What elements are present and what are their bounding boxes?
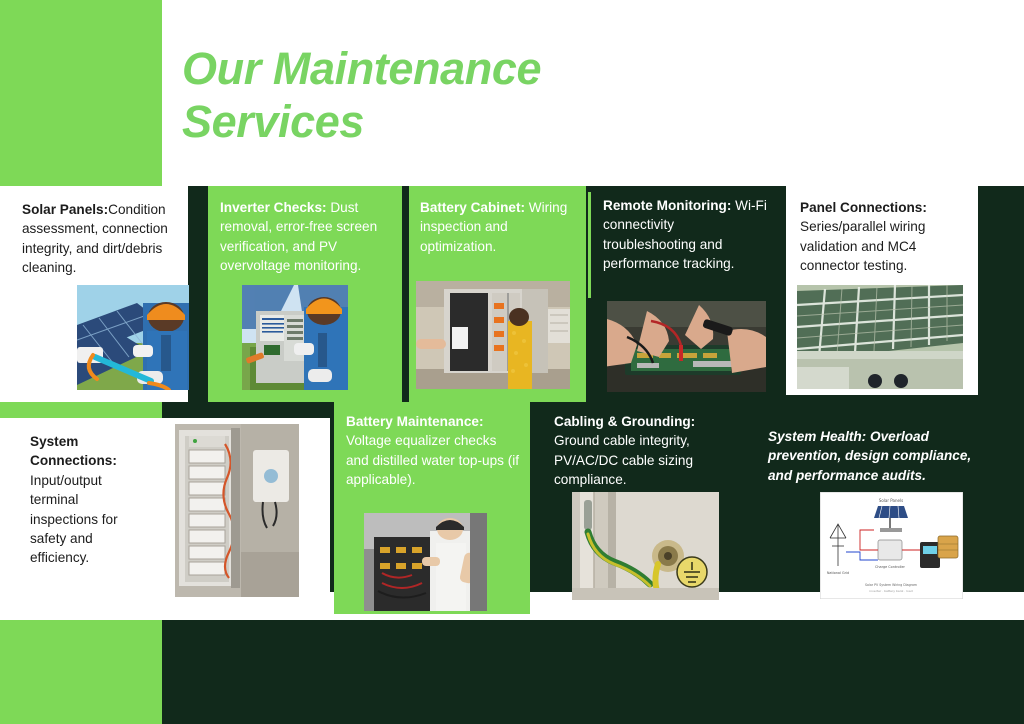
page-title: Our Maintenance Services	[182, 42, 652, 148]
card-system-connections-text: System Connections: Input/output termina…	[30, 432, 135, 568]
svg-text:National Grid: National Grid	[827, 571, 849, 575]
card-remote-monitoring[interactable]: Remote Monitoring: Wi-Fi connectivity tr…	[588, 192, 778, 298]
card-system-health[interactable]: System Health: Overload prevention, desi…	[768, 427, 978, 489]
card-remote-monitoring-text: Remote Monitoring: Wi-Fi connectivity tr…	[603, 196, 768, 274]
card-system-connections-body: Input/output terminal inspections for sa…	[30, 473, 118, 566]
card-solar-panels-image	[77, 285, 189, 390]
page-title-line-2: Services	[182, 95, 652, 148]
card-solar-panels-heading: Solar Panels:	[22, 202, 108, 217]
card-battery-maintenance-body: Voltage equalizer checks and distilled w…	[346, 433, 519, 487]
card-cabling-grounding[interactable]: Cabling & Grounding: Ground cable integr…	[554, 412, 734, 488]
card-cabling-grounding-heading: Cabling & Grounding:	[554, 414, 695, 429]
card-solar-panels-text: Solar Panels:Condition assessment, conne…	[22, 200, 176, 278]
card-system-health-heading: System Health:	[768, 429, 866, 444]
card-panel-connections-heading: Panel Connections:	[800, 200, 927, 215]
card-battery-cabinet-image	[416, 281, 570, 389]
bottom-left-green-block	[0, 620, 162, 724]
card-battery-cabinet-heading: Battery Cabinet:	[420, 200, 525, 215]
svg-text:Solar Panels: Solar Panels	[879, 498, 903, 503]
svg-text:inverter · battery bank · load: inverter · battery bank · load	[869, 589, 912, 593]
card-cabling-grounding-text: Cabling & Grounding: Ground cable integr…	[554, 412, 734, 490]
card-inverter-checks-heading: Inverter Checks:	[220, 200, 327, 215]
svg-text:Charge Controller: Charge Controller	[875, 565, 906, 569]
card-system-health-image: Solar Panels National Grid Charge Contro…	[820, 492, 963, 599]
poster-canvas: Our Maintenance Services Solar Panels:Co…	[0, 0, 1024, 724]
card-panel-connections-text: Panel Connections: Series/parallel wirin…	[800, 198, 964, 276]
header-green-block	[0, 0, 162, 186]
card-panel-connections-image	[797, 285, 963, 389]
card-battery-cabinet-text: Battery Cabinet: Wiring inspection and o…	[420, 198, 576, 256]
card-remote-monitoring-image	[607, 301, 766, 392]
card-cabling-grounding-body: Ground cable integrity, PV/AC/DC cable s…	[554, 433, 693, 487]
card-battery-maintenance-text: Battery Maintenance: Voltage equalizer c…	[346, 412, 520, 490]
card-battery-maintenance-heading: Battery Maintenance:	[346, 414, 483, 429]
card-panel-connections-body: Series/parallel wiring validation and MC…	[800, 219, 925, 273]
card-inverter-checks-text: Inverter Checks: Dust removal, error-fre…	[220, 198, 388, 276]
card-battery-maintenance-image	[364, 513, 487, 611]
card-system-connections-heading: System Connections:	[30, 434, 117, 468]
card-system-connections-image	[175, 424, 299, 597]
card-remote-monitoring-heading: Remote Monitoring:	[603, 198, 731, 213]
card-cabling-grounding-image	[572, 492, 719, 600]
svg-text:Solar PV System Wiring Diagram: Solar PV System Wiring Diagram	[865, 583, 917, 587]
card-system-health-text: System Health: Overload prevention, desi…	[768, 427, 978, 485]
page-title-line-1: Our Maintenance	[182, 42, 652, 95]
card-inverter-checks-image	[242, 285, 348, 390]
